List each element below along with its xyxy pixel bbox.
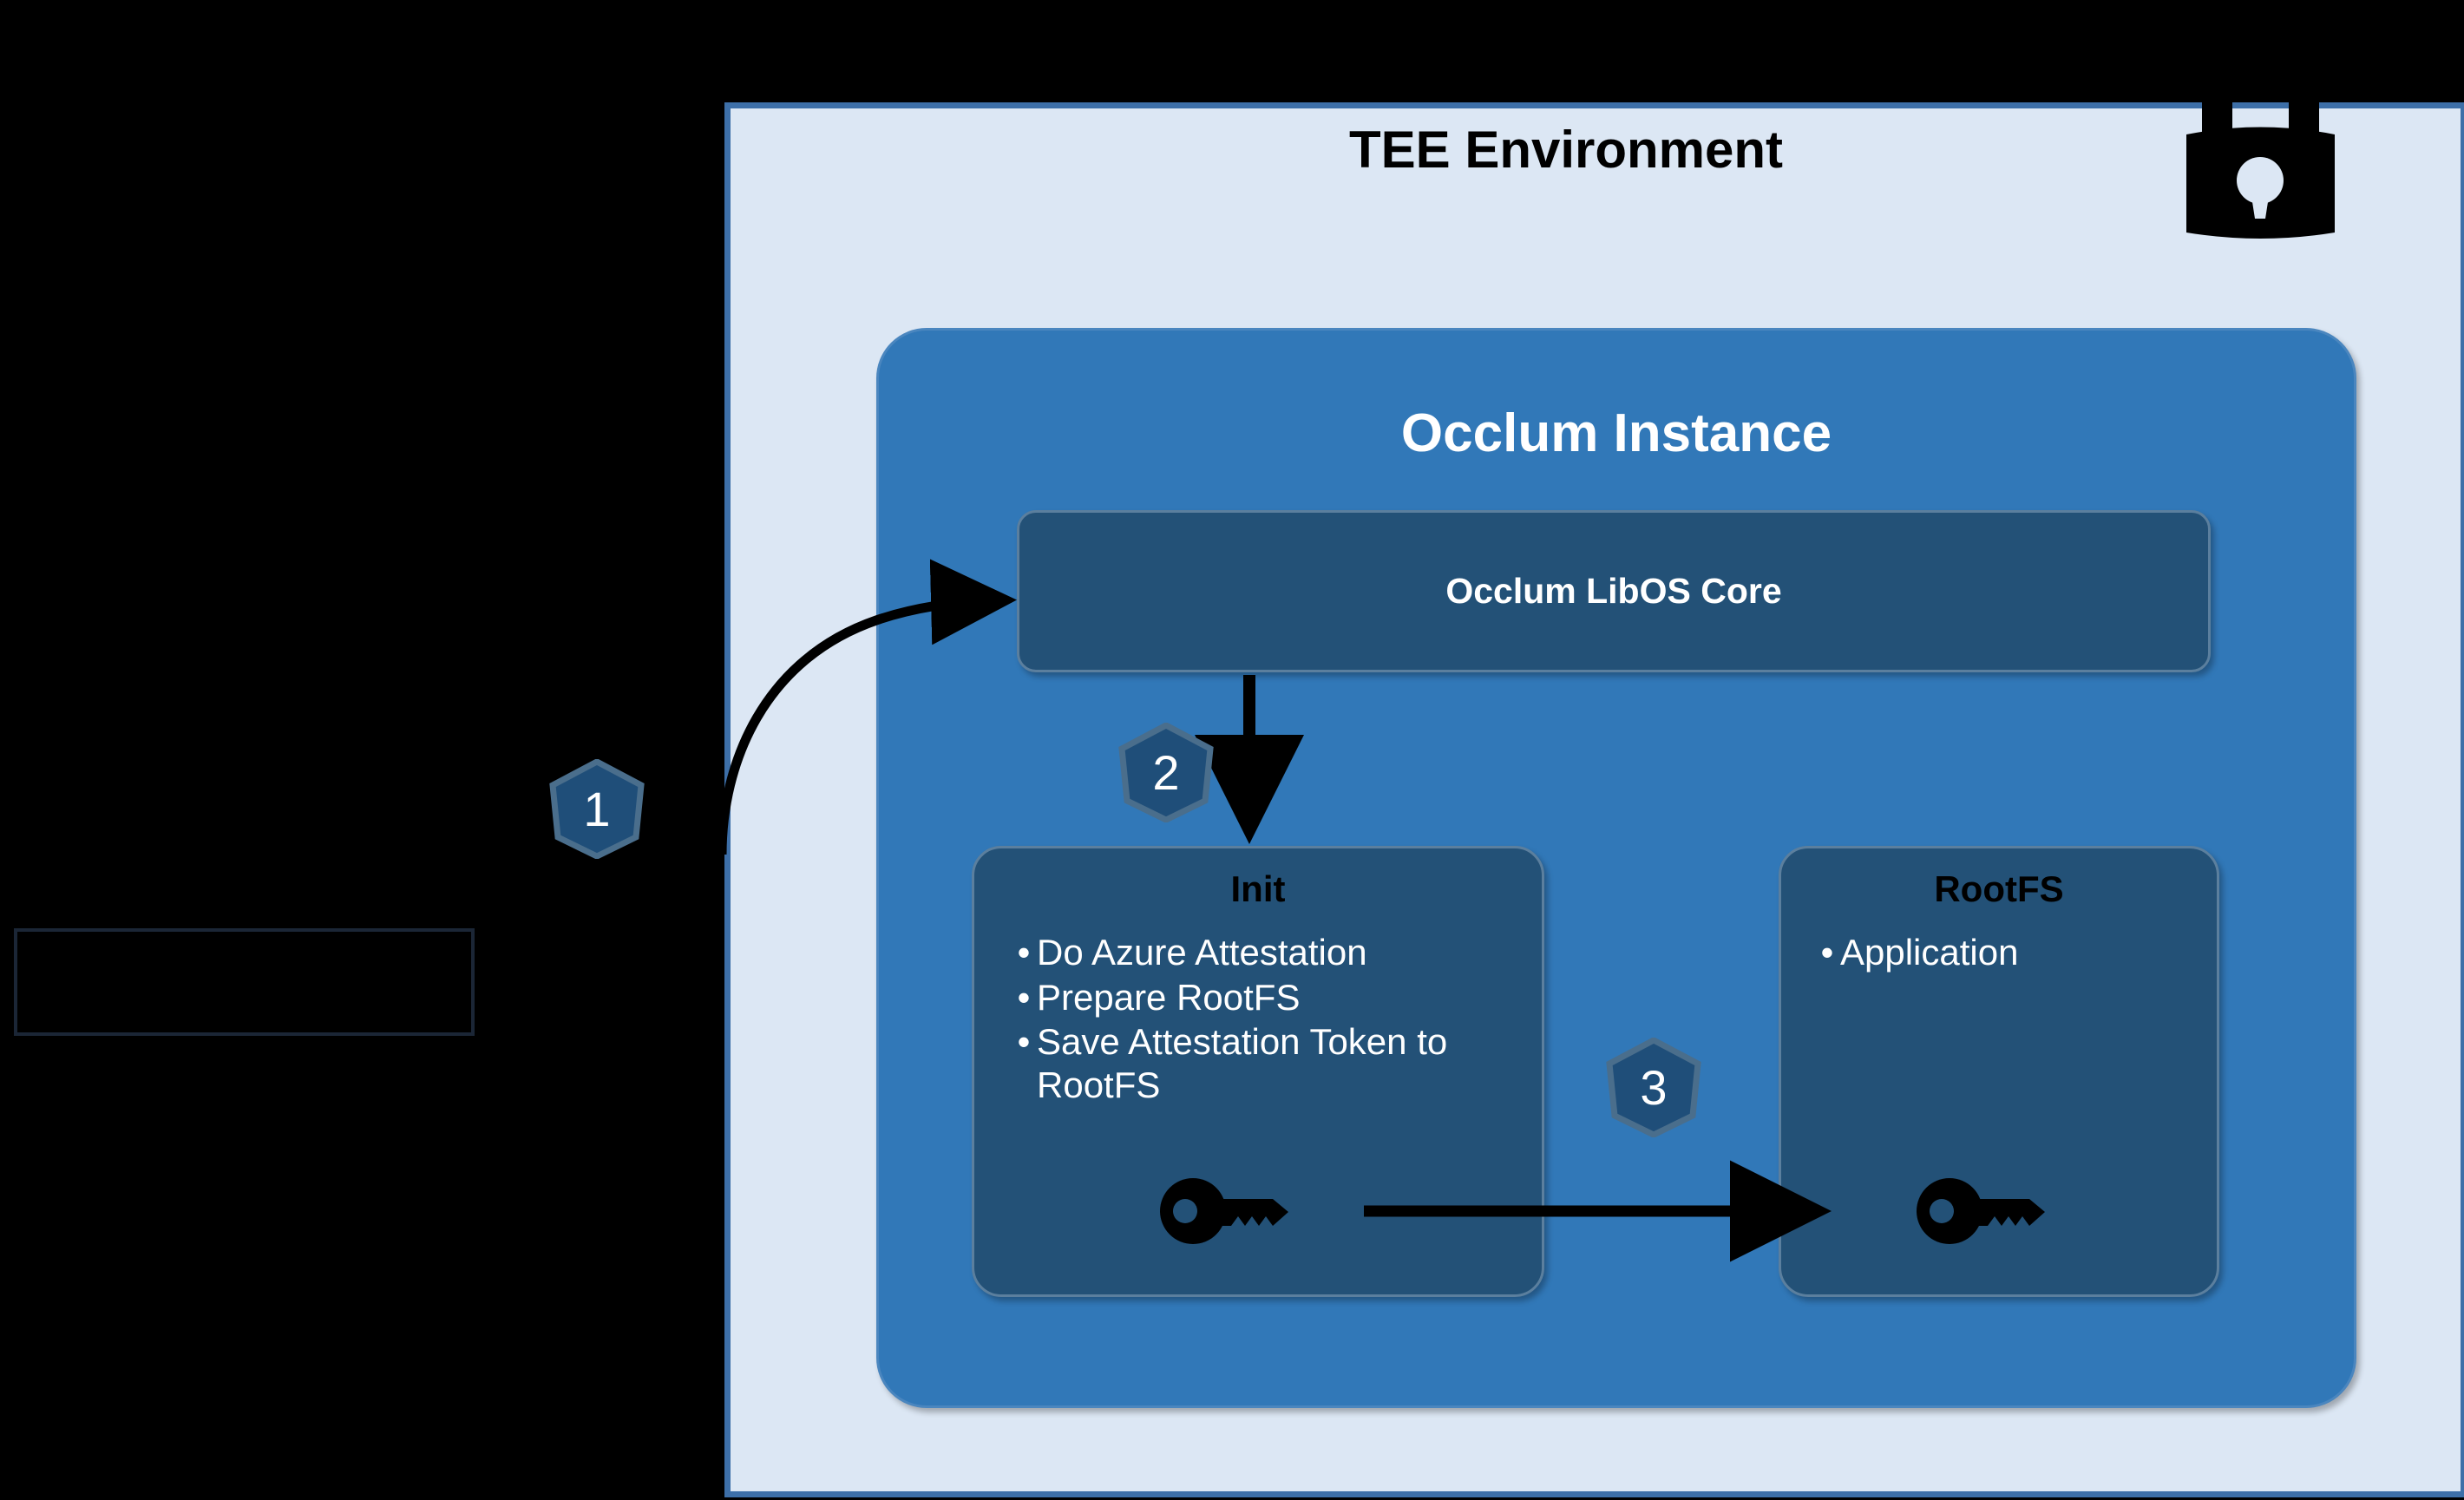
list-item: • Save Attestation Token to RootFS: [1011, 1020, 1531, 1106]
rootfs-bullet-0: Application: [1840, 931, 2018, 974]
diagram-canvas: TEE Environment Occlum Instance Occlum L…: [0, 0, 2464, 1500]
list-item: • Do Azure Attestation: [1011, 931, 1531, 974]
step-badge-3-number: 3: [1602, 1038, 1706, 1137]
init-bullet-1: Prepare RootFS: [1037, 976, 1300, 1019]
init-bullet-2: Save Attestation Token to RootFS: [1037, 1020, 1531, 1106]
rootfs-box-title: RootFS: [1781, 869, 2217, 909]
step-badge-3: 3: [1602, 1038, 1706, 1137]
step-badge-2: 2: [1114, 723, 1218, 822]
step-badge-2-number: 2: [1114, 723, 1218, 822]
key-icon: [1917, 1176, 2064, 1246]
step-badge-1-number: 1: [545, 759, 649, 859]
key-icon: [1160, 1176, 1307, 1246]
bullet-glyph: •: [1011, 1020, 1037, 1064]
list-item: • Prepare RootFS: [1011, 976, 1531, 1019]
empty-placeholder-box: [14, 928, 475, 1036]
init-box-title: Init: [974, 869, 1542, 909]
tee-environment-title: TEE Environment: [724, 121, 2408, 179]
padlock-icon: [2167, 52, 2354, 252]
rootfs-bullet-list: • Application: [1814, 931, 2213, 976]
occlum-instance-title: Occlum Instance: [879, 404, 2354, 463]
step-badge-1: 1: [545, 759, 649, 859]
init-bullet-list: • Do Azure Attestation • Prepare RootFS …: [1011, 931, 1531, 1108]
bullet-glyph: •: [1814, 931, 1840, 974]
list-item: • Application: [1814, 931, 2213, 974]
occlum-libos-core-label: Occlum LibOS Core: [1445, 571, 1781, 612]
bullet-glyph: •: [1011, 931, 1037, 974]
init-bullet-0: Do Azure Attestation: [1037, 931, 1367, 974]
bullet-glyph: •: [1011, 976, 1037, 1019]
occlum-libos-core-box: Occlum LibOS Core: [1017, 510, 2211, 672]
